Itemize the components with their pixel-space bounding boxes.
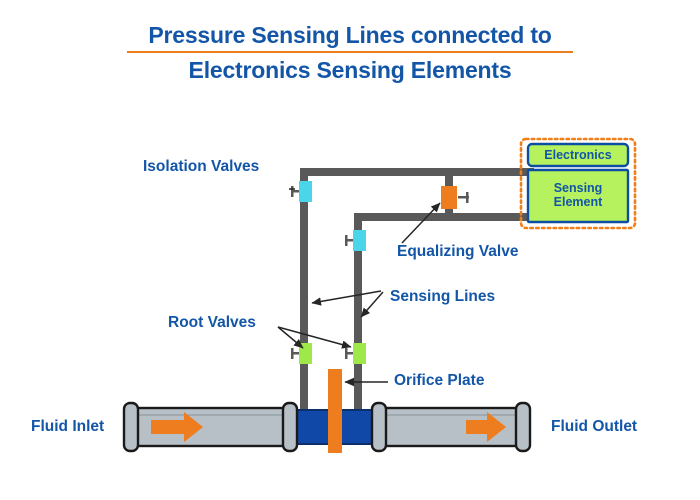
isolation-valve-left-handle — [291, 186, 294, 197]
root-valve-right-body — [353, 343, 366, 364]
isolation-valve-right-body — [353, 230, 366, 251]
equalizing-valve[interactable] — [441, 186, 469, 209]
leader-sensing-line-right — [361, 292, 383, 317]
root-valve-left-handle — [291, 348, 294, 359]
sensing-line-upper-horizontal — [300, 168, 534, 176]
pipe-flange-outlet-end — [516, 403, 530, 451]
label-fluid-inlet: Fluid Inlet — [31, 418, 104, 436]
root-valve-right-handle — [345, 348, 348, 359]
isolation-valve-right-handle — [345, 235, 348, 246]
diagram-canvas: Pressure Sensing Lines connected to Elec… — [0, 0, 700, 500]
isolation-valve-right[interactable] — [345, 230, 366, 251]
leader-equalizing-valve — [402, 203, 440, 243]
sensing-line-lower-horizontal — [354, 213, 534, 221]
sensing-element-box-label: Sensing Element — [528, 181, 628, 209]
sensing-line-left-vertical — [300, 168, 308, 418]
pipe-flange-inlet-end — [124, 403, 138, 451]
label-sensing-lines: Sensing Lines — [390, 288, 495, 306]
label-equalizing-valve: Equalizing Valve — [397, 243, 518, 261]
equalizing-valve-body — [441, 186, 457, 209]
pipe-flange-outlet-orifice — [372, 403, 386, 451]
label-fluid-outlet: Fluid Outlet — [551, 418, 637, 436]
orifice-plate — [328, 369, 342, 453]
electronics-box-label: Electronics — [528, 148, 628, 162]
label-orifice-plate: Orifice Plate — [394, 372, 484, 390]
leader-sensing-line-left — [312, 291, 381, 303]
label-root-valves: Root Valves — [168, 314, 256, 332]
pipe-flange-inlet-orifice — [283, 403, 297, 451]
isolation-valve-left[interactable] — [291, 181, 312, 202]
label-isolation-valves: Isolation Valves — [143, 158, 259, 176]
equalizing-valve-handle — [466, 192, 469, 203]
isolation-valve-left-body — [299, 181, 312, 202]
